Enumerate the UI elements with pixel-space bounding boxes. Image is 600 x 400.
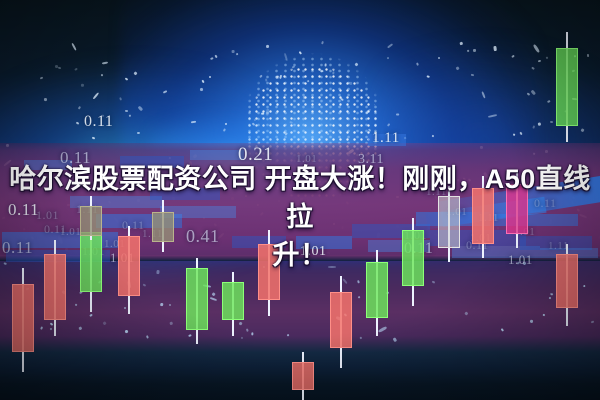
stock-news-banner: 0.110.110.110.111.011.011.011.111.010.11… xyxy=(0,0,600,400)
candlestick-body xyxy=(292,362,314,390)
candlestick xyxy=(330,276,352,368)
headline-line-1: 哈尔滨股票配资公司 开盘大涨！刚刚，A50直线拉 xyxy=(6,160,594,236)
candlestick-body xyxy=(222,282,244,320)
candlestick xyxy=(222,272,244,336)
candlestick-body xyxy=(186,268,208,330)
candlestick xyxy=(12,268,34,372)
candlestick-body xyxy=(330,292,352,348)
headline: 哈尔滨股票配资公司 开盘大涨！刚刚，A50直线拉 升！ xyxy=(0,160,600,274)
candlestick xyxy=(292,352,314,400)
candlestick xyxy=(556,32,578,142)
candlestick-body xyxy=(556,48,578,126)
candlestick-body xyxy=(12,284,34,352)
headline-line-2: 升！ xyxy=(6,236,594,274)
